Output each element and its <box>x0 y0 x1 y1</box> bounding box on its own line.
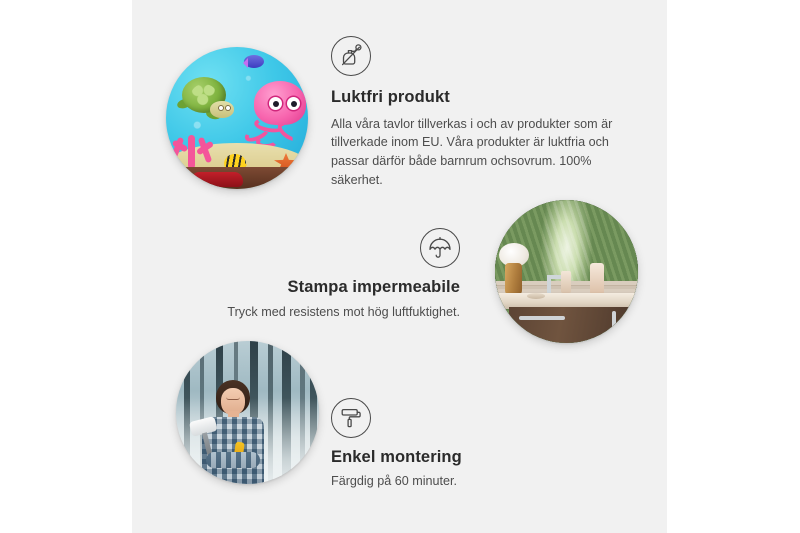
feature-body: Färgdig på 60 minuter. <box>331 472 611 491</box>
product-feature-panel: Luktfri produkt Alla våra tavlor tillver… <box>0 0 800 533</box>
umbrella-icon <box>420 228 460 268</box>
feature-waterproof-print: Stampa impermeabile Tryck med resistens … <box>192 228 460 321</box>
photo-sea-life-mural <box>166 47 308 189</box>
soap-bottle <box>590 263 604 295</box>
feature-body: Tryck med resistens mot hög luftfuktighe… <box>192 303 460 322</box>
no-spray-bottle-icon <box>331 36 371 76</box>
sea-turtle-icon <box>182 77 234 117</box>
faucet-icon <box>547 275 551 293</box>
gold-vase <box>505 263 522 297</box>
photo-bathroom-botanical-wallpaper <box>495 200 638 343</box>
feature-title: Stampa impermeabile <box>192 277 460 298</box>
soap-bottle-small <box>561 271 571 293</box>
feature-title: Luktfri produkt <box>331 87 631 108</box>
coral-icon <box>170 127 222 169</box>
photo-woman-with-paint-roller <box>176 341 319 484</box>
blue-fish-icon <box>244 55 264 68</box>
soap-dish <box>527 293 545 299</box>
sea-foreground-strip <box>166 167 308 189</box>
feature-title: Enkel montering <box>331 447 611 468</box>
paint-roller-icon <box>331 398 371 438</box>
wooden-vanity <box>509 307 638 343</box>
grey-content-panel: Luktfri produkt Alla våra tavlor tillver… <box>132 0 667 533</box>
feature-easy-mounting: Enkel montering Färgdig på 60 minuter. <box>331 398 611 490</box>
feature-odour-free: Luktfri produkt Alla våra tavlor tillver… <box>331 36 631 189</box>
feature-body: Alla våra tavlor tillverkas i och av pro… <box>331 115 631 190</box>
woman-figure <box>198 380 270 484</box>
octopus-icon <box>248 81 306 143</box>
